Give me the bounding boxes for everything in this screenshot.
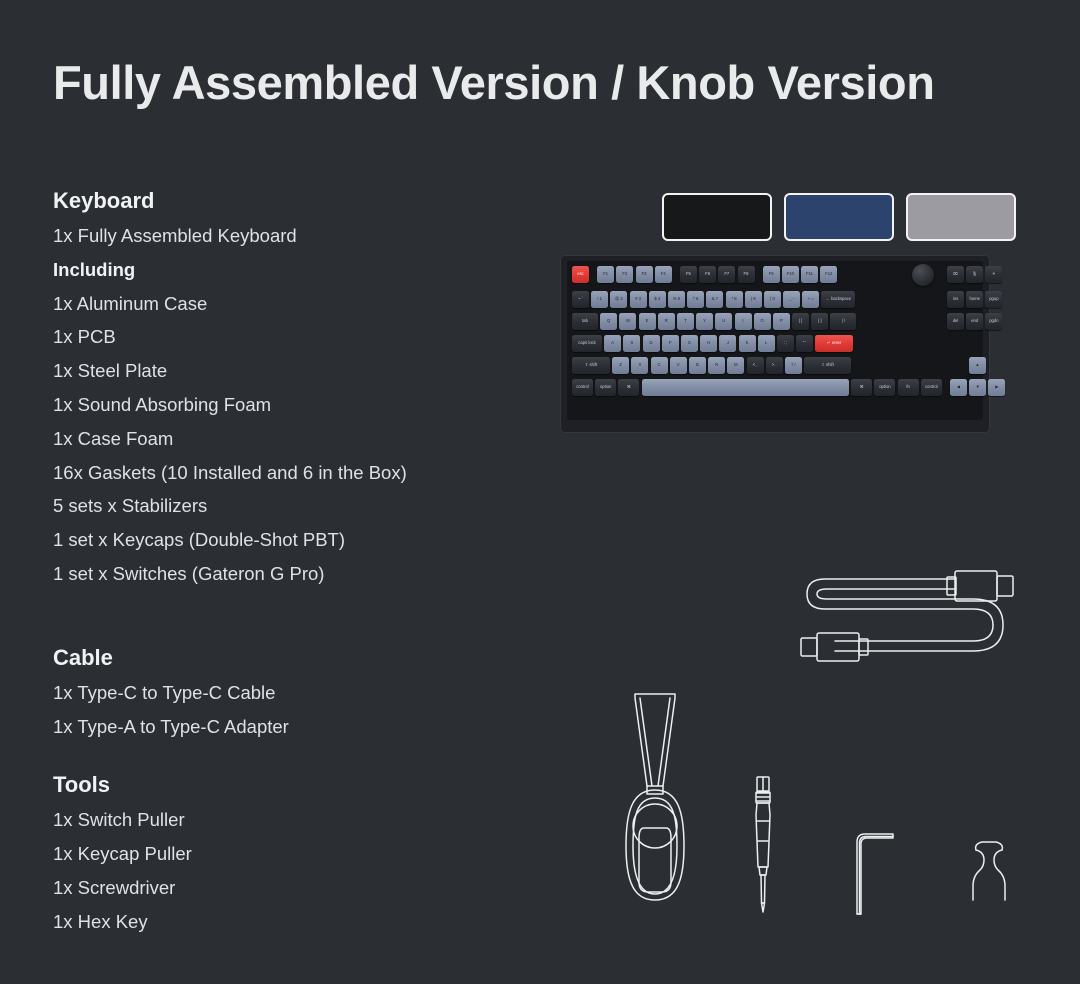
- contents-spec-list: Keyboard 1x Fully Assembled Keyboard Inc…: [53, 186, 523, 939]
- keyboard-row-bottom: control option ⌘ ⌘ option fn control: [572, 379, 944, 396]
- key-q: Q: [600, 313, 617, 330]
- key-f3: F3: [636, 266, 653, 283]
- key-fn: fn: [898, 379, 919, 396]
- key-control-right: control: [921, 379, 942, 396]
- key-s: S: [623, 335, 640, 352]
- key-3: # 3: [630, 291, 647, 308]
- key-period: > .: [766, 357, 783, 374]
- key-arrow-right-icon: ▶: [988, 379, 1005, 396]
- key-screenshot-icon: ⌧: [947, 266, 964, 283]
- section-heading-keyboard: Keyboard: [53, 186, 523, 216]
- key-e: E: [639, 313, 656, 330]
- product-contents-page: { "page": { "title": "Fully Assembled Ve…: [0, 0, 1080, 984]
- key-pgup: pgup: [985, 291, 1002, 308]
- usb-c-cable-illustration: [795, 563, 1015, 683]
- key-d: D: [643, 335, 660, 352]
- spec-item-including: Including: [53, 253, 523, 287]
- key-enter: ↵ enter: [815, 335, 853, 352]
- key-f7: F7: [718, 266, 735, 283]
- key-8: * 8: [726, 291, 743, 308]
- spec-item: 1x Steel Plate: [53, 354, 523, 388]
- key-f4: F4: [655, 266, 672, 283]
- keyboard-row-home: caps lock A S D F G H J K L : ; " ' ↵ en…: [572, 335, 855, 352]
- key-f: F: [662, 335, 679, 352]
- key-c: C: [651, 357, 668, 374]
- key-f12: F12: [820, 266, 837, 283]
- spec-item: 1x Keycap Puller: [53, 837, 523, 871]
- color-swatch-group: [662, 193, 1016, 241]
- key-equals: + =: [802, 291, 819, 308]
- spec-item: 1x Sound Absorbing Foam: [53, 388, 523, 422]
- key-slash: ? /: [785, 357, 802, 374]
- key-f1: F1: [597, 266, 614, 283]
- key-f10: F10: [782, 266, 799, 283]
- key-option-right: option: [874, 379, 895, 396]
- section-heading-tools: Tools: [53, 770, 523, 800]
- spec-item: 1x Case Foam: [53, 422, 523, 456]
- key-control-left: control: [572, 379, 593, 396]
- key-command-left: ⌘: [618, 379, 639, 396]
- key-z: Z: [612, 357, 629, 374]
- key-n: N: [708, 357, 725, 374]
- key-option-left: option: [595, 379, 616, 396]
- spec-item: 1x Type-C to Type-C Cable: [53, 676, 523, 710]
- keyboard-row-qwerty: tab Q W E R T Y U I O P { [ } ] | \: [572, 313, 859, 330]
- key-7: & 7: [706, 291, 723, 308]
- keyboard-row-number: ~ ` ! 1 @ 2 # 3 $ 4 % 5 ^ 6 & 7 * 8 ( 9 …: [572, 291, 858, 308]
- spec-item: 1x Switch Puller: [53, 803, 523, 837]
- key-f5: F5: [680, 266, 697, 283]
- spec-item: 1x Screwdriver: [53, 871, 523, 905]
- hex-key-illustration: [855, 832, 897, 916]
- section-spacer: [53, 591, 523, 643]
- key-i: I: [735, 313, 752, 330]
- key-brightness-icon: ☀: [985, 266, 1002, 283]
- section-heading-cable: Cable: [53, 643, 523, 673]
- key-x: X: [631, 357, 648, 374]
- key-g: G: [681, 335, 698, 352]
- keyboard-arrow-bottom-row: ◀ ▼ ▶: [950, 379, 1008, 396]
- key-backtick: ~ `: [572, 291, 589, 308]
- key-arrow-down-icon: ▼: [969, 379, 986, 396]
- keyboard-arrow-up-row: ▲: [969, 357, 988, 374]
- spec-item: 16x Gaskets (10 Installed and 6 in the B…: [53, 456, 523, 490]
- key-end: end: [966, 313, 983, 330]
- spec-item: 1x Aluminum Case: [53, 287, 523, 321]
- keyboard-nav-row-upper: ins home pgup: [947, 291, 1005, 308]
- spec-item: 1 set x Switches (Gateron G Pro): [53, 557, 523, 591]
- key-f11: F11: [801, 266, 818, 283]
- key-2: @ 2: [610, 291, 627, 308]
- spec-item: 1x Fully Assembled Keyboard: [53, 219, 523, 253]
- spec-item: 5 sets x Stabilizers: [53, 489, 523, 523]
- key-6: ^ 6: [687, 291, 704, 308]
- screwdriver-illustration: [748, 775, 778, 915]
- key-p: P: [773, 313, 790, 330]
- key-w: W: [619, 313, 636, 330]
- page-title: Fully Assembled Version / Knob Version: [53, 55, 935, 110]
- key-esc: esc: [572, 266, 589, 283]
- key-t: T: [677, 313, 694, 330]
- key-h: H: [700, 335, 717, 352]
- spec-item: 1x Hex Key: [53, 905, 523, 939]
- key-shift-right: ⇧ shift: [804, 357, 851, 374]
- key-f9: F9: [763, 266, 780, 283]
- key-j: J: [719, 335, 736, 352]
- keyboard-row-shift: ⇧ shift Z X C V B N M < , > . ? / ⇧ shif…: [572, 357, 853, 374]
- key-tab: tab: [572, 313, 598, 330]
- key-shift-left: ⇧ shift: [572, 357, 610, 374]
- keyboard-nav-row-media: ⌧ 🎙 ☀: [947, 266, 1005, 283]
- spec-item: 1x PCB: [53, 320, 523, 354]
- key-minus: _ -: [783, 291, 800, 308]
- key-backslash: | \: [830, 313, 856, 330]
- spec-section-keyboard: Keyboard 1x Fully Assembled Keyboard Inc…: [53, 186, 523, 591]
- key-f8: F8: [738, 266, 755, 283]
- color-swatch-navy[interactable]: [784, 193, 894, 241]
- color-swatch-black[interactable]: [662, 193, 772, 241]
- key-f6: F6: [699, 266, 716, 283]
- rotary-knob[interactable]: [912, 264, 934, 286]
- keyboard-plate: esc F1 F2 F3 F4 F5 F6 F7 F8 F9 F10 F11 F…: [567, 261, 983, 420]
- keycap-puller-illustration: [968, 840, 1010, 902]
- key-9: ( 9: [745, 291, 762, 308]
- keyboard-product-image: esc F1 F2 F3 F4 F5 F6 F7 F8 F9 F10 F11 F…: [560, 255, 990, 433]
- key-bracket-left: { [: [792, 313, 809, 330]
- key-5: % 5: [668, 291, 685, 308]
- key-o: O: [754, 313, 771, 330]
- key-bracket-right: } ]: [811, 313, 828, 330]
- key-v: V: [670, 357, 687, 374]
- key-backspace: ← backspace: [821, 291, 855, 308]
- key-comma: < ,: [747, 357, 764, 374]
- key-a: A: [604, 335, 621, 352]
- key-pgdn: pgdn: [985, 313, 1002, 330]
- key-mic-icon: 🎙: [966, 266, 983, 283]
- key-y: Y: [696, 313, 713, 330]
- key-k: K: [739, 335, 756, 352]
- key-delete: del: [947, 313, 964, 330]
- key-spacebar: [642, 379, 850, 396]
- key-r: R: [658, 313, 675, 330]
- spec-item: 1 set x Keycaps (Double-Shot PBT): [53, 523, 523, 557]
- key-1: ! 1: [591, 291, 608, 308]
- key-b: B: [689, 357, 706, 374]
- switch-puller-illustration: [622, 686, 688, 908]
- key-command-right: ⌘: [851, 379, 872, 396]
- key-insert: ins: [947, 291, 964, 308]
- keyboard-row-function: esc F1 F2 F3 F4 F5 F6 F7 F8 F9 F10 F11 F…: [572, 266, 839, 283]
- key-arrow-left-icon: ◀: [950, 379, 967, 396]
- key-0: ) 0: [764, 291, 781, 308]
- spec-item: 1x Type-A to Type-C Adapter: [53, 710, 523, 744]
- key-m: M: [727, 357, 744, 374]
- spec-section-cable: Cable 1x Type-C to Type-C Cable 1x Type-…: [53, 643, 523, 744]
- key-f2: F2: [616, 266, 633, 283]
- key-arrow-up-icon: ▲: [969, 357, 986, 374]
- color-swatch-grey[interactable]: [906, 193, 1016, 241]
- spec-section-tools: Tools 1x Switch Puller 1x Keycap Puller …: [53, 770, 523, 938]
- key-home: home: [966, 291, 983, 308]
- key-semicolon: : ;: [777, 335, 794, 352]
- key-quote: " ': [796, 335, 813, 352]
- section-spacer: [53, 743, 523, 770]
- key-capslock: caps lock: [572, 335, 602, 352]
- key-u: U: [715, 313, 732, 330]
- keyboard-nav-row-lower: del end pgdn: [947, 313, 1005, 330]
- key-4: $ 4: [649, 291, 666, 308]
- key-l: L: [758, 335, 775, 352]
